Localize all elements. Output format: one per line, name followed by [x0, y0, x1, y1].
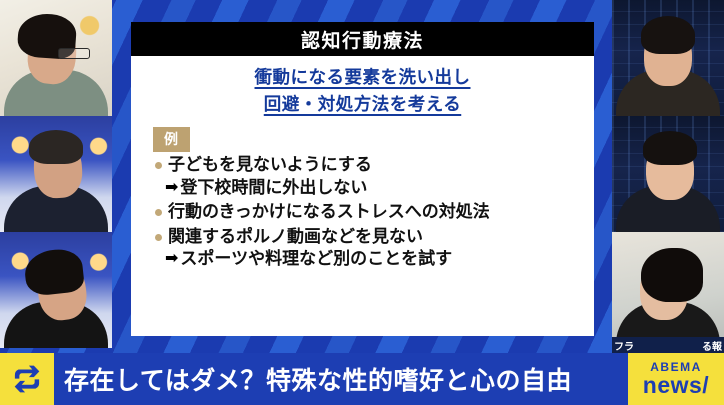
example-badge-row: 例	[153, 127, 580, 152]
bullet-main-row: 行動のきっかけになるストレスへの対処法	[153, 201, 580, 223]
list-item: 行動のきっかけになるストレスへの対処法	[153, 201, 580, 223]
participant-tile-right-middle[interactable]	[612, 116, 724, 232]
participant-figure	[0, 116, 112, 232]
lower-third-ticker: フラ る報	[612, 337, 724, 353]
bullet-sub-row: ➡ スポーツや料理など別のことを試す	[153, 248, 580, 270]
participant-tile-right-top[interactable]	[612, 0, 724, 116]
participant-tile-left-top[interactable]	[0, 0, 112, 116]
bullet-main-text: 行動のきっかけになるストレスへの対処法	[168, 201, 490, 223]
participant-tile-right-bottom[interactable]	[612, 232, 724, 348]
list-item: 子どもを見ないようにする ➡ 登下校時間に外出しない	[153, 154, 580, 199]
bullet-main-text: 子どもを見ないようにする	[168, 154, 372, 176]
bullet-sub-row: ➡ 登下校時間に外出しない	[153, 177, 580, 199]
logo-news-text: news/	[643, 374, 709, 397]
participant-tile-left-middle[interactable]	[0, 116, 112, 232]
ticker-text-left: フラ	[614, 338, 634, 353]
right-arrow-icon: ➡	[165, 248, 178, 270]
bullet-main-text: 関連するポルノ動画などを見ない	[168, 226, 423, 248]
topic-slide-card: 認知行動療法 衝動になる要素を洗い出し 回避・対処方法を考える 例 子どもを見な…	[131, 22, 594, 336]
abema-news-logo: ABEMA news/	[628, 353, 724, 405]
right-arrow-icon: ➡	[165, 177, 178, 199]
slide-headline-1: 衝動になる要素を洗い出し	[145, 64, 580, 91]
bullet-dot-icon	[155, 234, 162, 241]
participant-figure	[612, 232, 724, 348]
refresh-cycle-icon	[10, 362, 44, 396]
banner-icon-box	[0, 353, 54, 405]
participant-figure	[0, 0, 112, 116]
participant-figure	[0, 232, 112, 348]
eyeglasses-icon	[58, 48, 90, 59]
bottom-news-banner: 存在してはダメ？特殊な性的嗜好と心の自由 ABEMA news/	[0, 353, 724, 405]
bullet-dot-icon	[155, 209, 162, 216]
bullet-dot-icon	[155, 162, 162, 169]
bullet-sub-text: スポーツや料理など別のことを試す	[180, 248, 452, 270]
participant-figure	[612, 116, 724, 232]
participant-figure	[612, 0, 724, 116]
banner-text-box: 存在してはダメ？特殊な性的嗜好と心の自由	[54, 353, 628, 405]
slide-headline-2: 回避・対処方法を考える	[145, 91, 580, 118]
bullet-main-row: 子どもを見ないようにする	[153, 154, 580, 176]
example-bullet-list: 子どもを見ないようにする ➡ 登下校時間に外出しない 行動のきっかけになるストレ…	[145, 154, 580, 270]
example-badge: 例	[153, 127, 190, 152]
slide-title: 認知行動療法	[301, 26, 424, 53]
participant-tile-left-bottom[interactable]	[0, 232, 112, 348]
ticker-text-right: る報	[702, 338, 722, 353]
slide-title-bar: 認知行動療法	[131, 22, 594, 56]
video-panel-column-right	[612, 0, 724, 348]
list-item: 関連するポルノ動画などを見ない ➡ スポーツや料理など別のことを試す	[153, 226, 580, 271]
bullet-main-row: 関連するポルノ動画などを見ない	[153, 226, 580, 248]
broadcast-screen: フラ る報 認知行動療法 衝動になる要素を洗い出し 回避・対処方法を考える 例 …	[0, 0, 724, 405]
bullet-sub-text: 登下校時間に外出しない	[180, 177, 367, 199]
slide-body: 衝動になる要素を洗い出し 回避・対処方法を考える 例 子どもを見ないようにする …	[131, 56, 594, 270]
video-panel-column-left	[0, 0, 112, 348]
banner-headline: 存在してはダメ？特殊な性的嗜好と心の自由	[64, 361, 572, 397]
